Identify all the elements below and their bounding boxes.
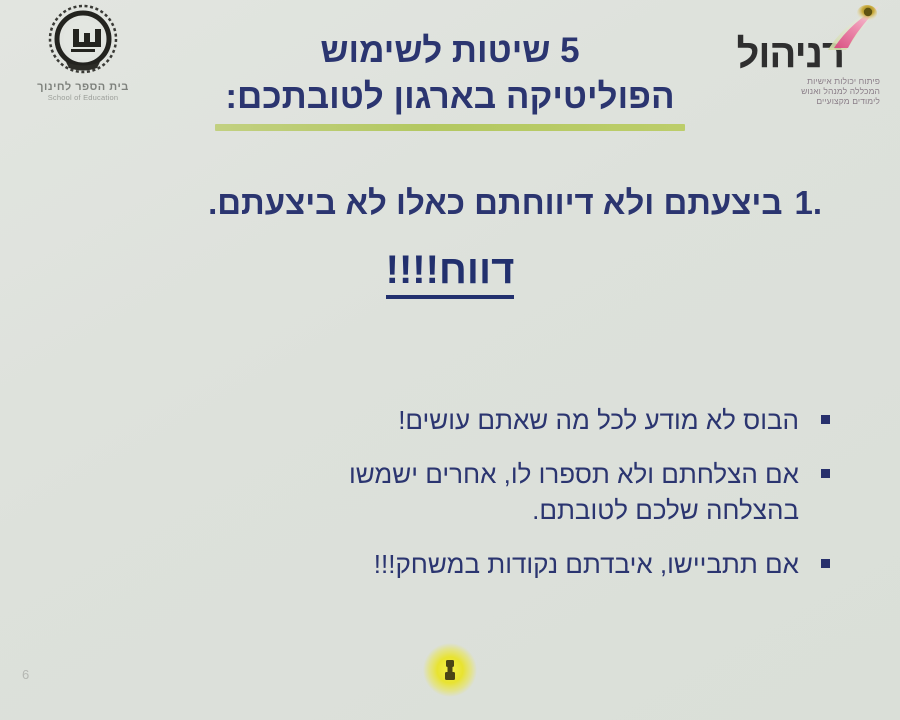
institution-name-english: School of Education xyxy=(8,93,158,102)
slide-title: 5 שיטות לשימוש הפוליטיקה בארגון לטובתכם: xyxy=(185,28,715,131)
flame-bird-icon xyxy=(824,0,886,52)
brand-tagline-line-3: לימודים מקצועיים xyxy=(698,96,880,106)
list-item: אם תתביישו, איבדתם נקודות במשחק!!! xyxy=(90,546,830,582)
technion-seal-icon xyxy=(44,2,122,80)
list-item-text: הבוס לא מודע לכל מה שאתם עושים! xyxy=(90,402,799,438)
list-item-line-1: אם תתביישו, איבדתם נקודות במשחק!!! xyxy=(374,549,799,579)
emphasis-heading-text: דווח!!!! xyxy=(386,246,515,299)
list-item-line-2: בהצלחה שלכם לטובתם. xyxy=(90,492,799,528)
square-bullet-icon xyxy=(821,415,830,424)
list-item-line-1: אם הצלחתם ולא תספרו לו, אחרים ישמשו xyxy=(349,459,799,489)
square-bullet-icon xyxy=(821,559,830,568)
brand-tagline-line-1: פיתוח יכולות אישיות xyxy=(698,76,880,86)
institution-logo: בית הספר לחינוך School of Education xyxy=(8,2,158,102)
page-number: 6 xyxy=(22,667,29,682)
numbered-item-1-text: ביצעתם ולא דיווחתם כאלו לא ביצעתם. xyxy=(208,182,782,224)
list-item-text: אם תתביישו, איבדתם נקודות במשחק!!! xyxy=(90,546,799,582)
institution-name-hebrew: בית הספר לחינוך xyxy=(8,81,158,93)
brand-tagline: פיתוח יכולות אישיות המכללה למנהל ואנוש ל… xyxy=(698,76,888,106)
numbered-item-1-number: 1. xyxy=(794,182,822,224)
emphasis-heading: דווח!!!! xyxy=(0,246,900,299)
brand-logo: רניהול פיתוח יכולות אישיות המכללה למנהל … xyxy=(698,4,888,106)
square-bullet-icon xyxy=(821,469,830,478)
slide-title-line-2: הפוליטיקה בארגון לטובתכם: xyxy=(185,74,715,120)
presentation-slide: בית הספר לחינוך School of Education xyxy=(0,0,900,720)
brand-tagline-line-2: המכללה למנהל ואנוש xyxy=(698,86,880,96)
glowing-figure-badge-icon xyxy=(422,642,478,698)
list-item: אם הצלחתם ולא תספרו לו, אחרים ישמשו בהצל… xyxy=(90,456,830,528)
numbered-item-1: 1. ביצעתם ולא דיווחתם כאלו לא ביצעתם. xyxy=(78,182,822,224)
list-item-text: אם הצלחתם ולא תספרו לו, אחרים ישמשו בהצל… xyxy=(90,456,799,528)
list-item-line-1: הבוס לא מודע לכל מה שאתם עושים! xyxy=(398,405,799,435)
bullet-list: הבוס לא מודע לכל מה שאתם עושים! אם הצלחת… xyxy=(90,402,830,600)
slide-title-line-1: 5 שיטות לשימוש xyxy=(185,28,715,74)
title-underline-rule xyxy=(215,124,685,131)
list-item: הבוס לא מודע לכל מה שאתם עושים! xyxy=(90,402,830,438)
